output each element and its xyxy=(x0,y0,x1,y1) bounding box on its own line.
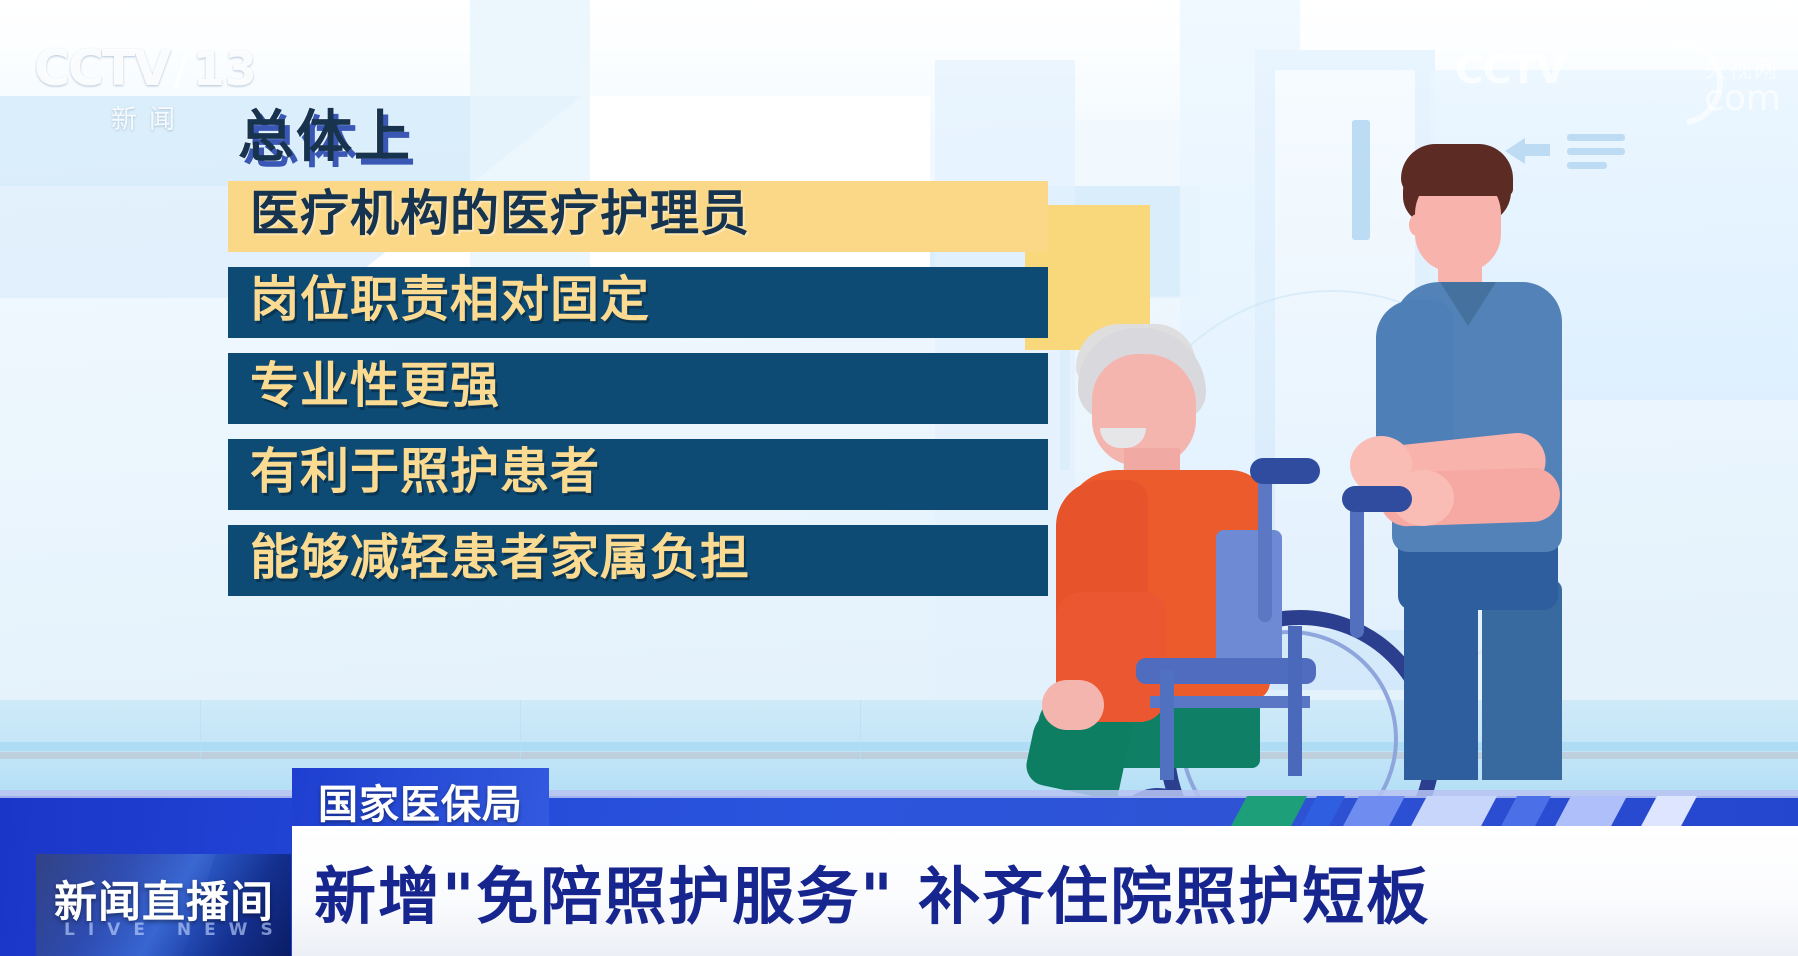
patient-hand xyxy=(1042,680,1104,730)
wheelchair-backrest xyxy=(1216,530,1282,670)
wheelchair-push-bar-left xyxy=(1258,462,1272,622)
headline-bar: 新增"免陪照护服务" 补齐住院照护短板 xyxy=(292,826,1798,956)
wheelchair-frame-front xyxy=(1160,670,1174,780)
floor-seam xyxy=(860,700,861,760)
infographic-item-highlight: 医疗机构的医疗护理员 xyxy=(228,181,1048,252)
wheelchair-grip-left xyxy=(1250,458,1320,484)
organization-tag: 国家医保局 xyxy=(292,768,549,830)
caregiver-wheelchair-illustration xyxy=(1020,140,1660,780)
infographic-item: 专业性更强 xyxy=(228,353,1048,424)
program-badge[interactable]: 新闻直播间 LIVE NEWS xyxy=(36,854,291,956)
infographic-item-label: 岗位职责相对固定 xyxy=(250,274,650,327)
infographic-item-label: 能够减轻患者家属负担 xyxy=(250,532,750,585)
deco-stripe xyxy=(1639,796,1697,830)
caregiver-leg-right xyxy=(1482,580,1562,780)
channel-number: 13 xyxy=(193,42,257,96)
infographic-heading: 总体上 xyxy=(228,92,1048,173)
deco-stripe xyxy=(1499,796,1551,830)
watermark-com: com xyxy=(1704,78,1781,119)
wheelchair-crossbar xyxy=(1150,696,1310,708)
organization-label: 国家医保局 xyxy=(318,772,523,830)
caregiver-leg-left xyxy=(1404,580,1478,780)
deco-stripe xyxy=(1341,796,1405,830)
caregiver-hair-top xyxy=(1401,144,1513,196)
deco-stripe xyxy=(1409,796,1497,830)
wheelchair-grip-right xyxy=(1342,486,1412,512)
cctv-com-watermark: CCTV 央视网 com xyxy=(1455,48,1785,120)
broadcast-screenshot: CCTV / 13 新闻 CCTV 央视网 com 总体上 医疗机构的医疗护理员… xyxy=(0,0,1798,956)
logo-divider: / xyxy=(173,42,189,96)
program-name-en: LIVE NEWS xyxy=(64,920,286,940)
infographic-item: 岗位职责相对固定 xyxy=(228,267,1048,338)
wheelchair-frame-rear xyxy=(1288,626,1302,776)
caregiver-ear xyxy=(1409,214,1425,236)
infographic-panel: 总体上 医疗机构的医疗护理员 岗位职责相对固定 专业性更强 有利于照护患者 能够… xyxy=(228,92,1048,611)
deco-stripe xyxy=(1553,796,1627,830)
infographic-item: 有利于照护患者 xyxy=(228,439,1048,510)
lower-third: 新闻直播间 LIVE NEWS 国家医保局 新增"免陪照护服务" 补齐住院照护短… xyxy=(0,768,1798,956)
deco-stripe xyxy=(1229,796,1307,830)
lower-third-decoration xyxy=(1178,796,1798,830)
headline-text: 新增"免陪照护服务" 补齐住院照护短板 xyxy=(314,846,1430,936)
infographic-item-label: 医疗机构的医疗护理员 xyxy=(250,188,750,241)
infographic-item-label: 专业性更强 xyxy=(250,360,500,413)
floor-seam xyxy=(200,700,201,760)
floor-seam xyxy=(520,700,521,760)
deco-stripe xyxy=(1299,796,1345,830)
cctv-wordmark: CCTV xyxy=(34,40,169,97)
infographic-item: 能够减轻患者家属负担 xyxy=(228,525,1048,596)
infographic-item-label: 有利于照护患者 xyxy=(250,446,600,499)
